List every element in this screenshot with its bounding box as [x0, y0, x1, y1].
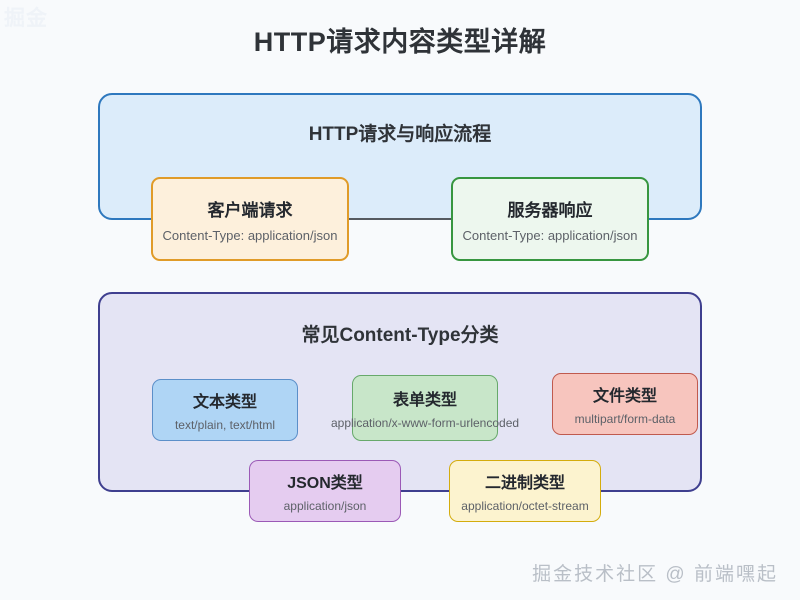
- node-binary-type[interactable]: 二进制类型 application/octet-stream: [449, 460, 601, 522]
- node-json-type-title: JSON类型: [287, 469, 363, 493]
- node-file-type-subtitle: multipart/form-data: [575, 412, 676, 426]
- node-text-type[interactable]: 文本类型 text/plain, text/html: [152, 379, 298, 441]
- panel-content-type-categories-title: 常见Content-Type分类: [100, 320, 700, 347]
- node-server-response-title: 服务器响应: [508, 196, 593, 221]
- node-text-type-title: 文本类型: [193, 388, 257, 412]
- footer-watermark: 掘金技术社区 @ 前端嘿起: [532, 559, 778, 586]
- node-form-type[interactable]: 表单类型 application/x-www-form-urlencoded: [352, 375, 498, 441]
- node-client-request-subtitle: Content-Type: application/json: [163, 228, 338, 243]
- node-server-response-subtitle: Content-Type: application/json: [463, 228, 638, 243]
- node-text-type-subtitle: text/plain, text/html: [175, 418, 275, 432]
- node-form-type-subtitle: application/x-www-form-urlencoded: [331, 416, 519, 430]
- node-file-type-title: 文件类型: [593, 382, 657, 406]
- diagram-canvas: 掘金 HTTP请求内容类型详解 HTTP请求与响应流程 客户端请求 Conten…: [0, 0, 800, 600]
- node-server-response[interactable]: 服务器响应 Content-Type: application/json: [451, 177, 649, 261]
- node-client-request-title: 客户端请求: [208, 196, 293, 221]
- node-binary-type-subtitle: application/octet-stream: [461, 499, 588, 513]
- node-form-type-title: 表单类型: [393, 386, 457, 410]
- node-file-type[interactable]: 文件类型 multipart/form-data: [552, 373, 698, 435]
- node-json-type[interactable]: JSON类型 application/json: [249, 460, 401, 522]
- node-client-request[interactable]: 客户端请求 Content-Type: application/json: [151, 177, 349, 261]
- node-binary-type-title: 二进制类型: [485, 469, 565, 493]
- panel-http-flow-title: HTTP请求与响应流程: [100, 119, 700, 146]
- node-json-type-subtitle: application/json: [284, 499, 367, 513]
- flow-connector-line: [349, 218, 451, 220]
- page-title: HTTP请求内容类型详解: [0, 20, 800, 59]
